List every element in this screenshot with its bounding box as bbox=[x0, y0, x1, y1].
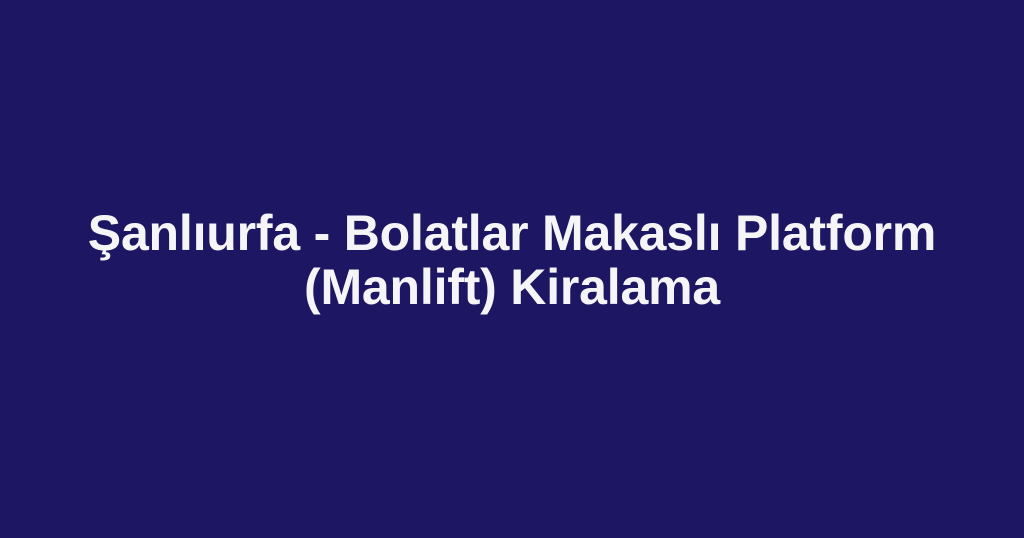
page-title: Şanlıurfa - Bolatlar Makaslı Platform (M… bbox=[87, 206, 937, 314]
banner-title-block: Şanlıurfa - Bolatlar Makaslı Platform (M… bbox=[87, 206, 937, 314]
banner-card: Şanlıurfa - Bolatlar Makaslı Platform (M… bbox=[0, 0, 1024, 538]
